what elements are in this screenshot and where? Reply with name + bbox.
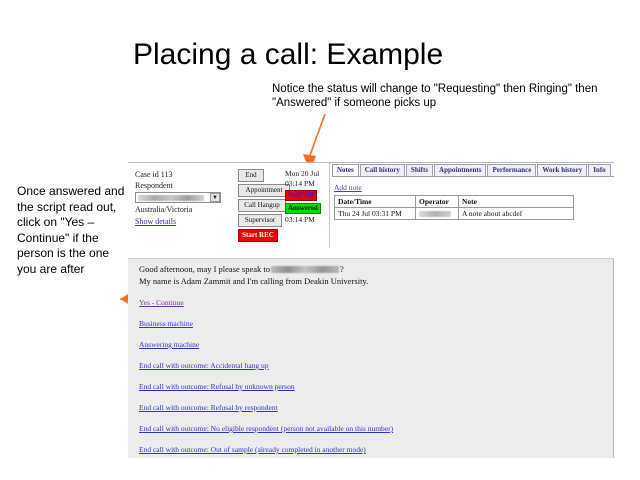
app-header-region: Case id 113 Respondent ▼ Australia/Victo… xyxy=(128,163,614,248)
column-header-datetime: Date/Time xyxy=(335,196,416,208)
status-date: Mon 20 Jul xyxy=(285,169,327,179)
call-script-text: Good afternoon, may I please speak to? M… xyxy=(139,264,368,287)
outcome-refusal-unknown-person[interactable]: End call with outcome: Refusal by unknow… xyxy=(139,382,393,391)
outcome-no-eligible-respondent[interactable]: End call with outcome: No eligible respo… xyxy=(139,424,393,433)
add-note-link[interactable]: Add note xyxy=(334,183,362,192)
outcome-accidental-hang-up[interactable]: End call with outcome: Accidental hang u… xyxy=(139,361,393,370)
tab-strip: Notes Call history Shifts Appointments P… xyxy=(332,165,614,177)
tab-work-history[interactable]: Work history xyxy=(537,164,587,176)
outcome-answering-machine[interactable]: Answering machine xyxy=(139,340,393,349)
slide-canvas: Placing a call: Example Notice the statu… xyxy=(0,0,640,480)
notes-panel: Notes Call history Shifts Appointments P… xyxy=(332,165,614,248)
case-id-label: Case id 113 xyxy=(135,170,235,181)
call-status-badge: Answered xyxy=(285,203,321,214)
script-area: Good afternoon, may I please speak to? M… xyxy=(128,258,614,458)
script-line-1: Good afternoon, may I please speak to? xyxy=(139,264,368,276)
tab-call-history[interactable]: Call history xyxy=(360,164,405,176)
script-line1-before: Good afternoon, may I please speak to xyxy=(139,264,270,274)
outcome-link-list: Yes - Continue Business machine Answerin… xyxy=(139,298,393,458)
show-details-link[interactable]: Show details xyxy=(135,217,176,228)
column-header-operator: Operator xyxy=(416,196,459,208)
tab-notes[interactable]: Notes xyxy=(332,164,359,176)
region-label: Australia/Victoria xyxy=(135,205,235,216)
callout-script-note: Once answered and the script read out, c… xyxy=(17,184,129,277)
notes-table: Date/Time Operator Note Thu 24 Jul 03:31… xyxy=(334,195,574,220)
outcome-refusal-respondent[interactable]: End call with outcome: Refusal by respon… xyxy=(139,403,393,412)
embedded-app-screenshot: Case id 113 Respondent ▼ Australia/Victo… xyxy=(128,162,614,458)
column-header-note: Note xyxy=(459,196,574,208)
voip-status-badge: VoIP Off xyxy=(285,190,317,201)
cell-operator xyxy=(416,208,459,220)
cell-datetime: Thu 24 Jul 03:31 PM xyxy=(335,208,416,220)
supervisor-button[interactable]: Supervisor xyxy=(238,214,282,227)
outcome-business-machine[interactable]: Business machine xyxy=(139,319,393,328)
tab-info[interactable]: Info xyxy=(588,164,610,176)
respondent-dropdown[interactable]: ▼ xyxy=(135,192,221,203)
end-button[interactable]: End xyxy=(238,169,264,182)
table-header-row: Date/Time Operator Note xyxy=(335,196,574,208)
appointment-button[interactable]: Appointment xyxy=(238,184,290,197)
callout-status-note: Notice the status will change to "Reques… xyxy=(272,82,602,110)
chevron-down-icon[interactable]: ▼ xyxy=(210,193,220,202)
call-status-column: Mon 20 Jul 03:14 PM VoIP Off Answered 03… xyxy=(285,169,327,225)
script-line-2: My name is Adam Zammit and I'm calling f… xyxy=(139,276,368,288)
redacted-person-name xyxy=(271,266,339,273)
cell-note: A note about abcdef xyxy=(459,208,574,220)
page-title: Placing a call: Example xyxy=(133,38,443,72)
table-row[interactable]: Thu 24 Jul 03:31 PM A note about abcdef xyxy=(335,208,574,220)
respondent-label: Respondent xyxy=(135,181,235,192)
tab-appointments[interactable]: Appointments xyxy=(434,164,486,176)
panel-divider xyxy=(329,163,330,248)
redacted-operator-name xyxy=(419,211,451,217)
redacted-respondent-name xyxy=(138,195,204,201)
status-time-top: 03:14 PM xyxy=(285,179,327,189)
status-time-bottom: 03:14 PM xyxy=(285,215,327,225)
script-line1-after: ? xyxy=(340,264,344,274)
outcome-yes-continue[interactable]: Yes - Continue xyxy=(139,298,393,307)
case-info-panel: Case id 113 Respondent ▼ Australia/Victo… xyxy=(135,170,235,227)
call-hangup-button[interactable]: Call Hangup xyxy=(238,199,286,212)
outcome-out-of-sample[interactable]: End call with outcome: Out of sample (al… xyxy=(139,445,393,454)
tab-shifts[interactable]: Shifts xyxy=(406,164,433,176)
start-rec-button[interactable]: Start REC xyxy=(238,229,278,242)
tab-performance[interactable]: Performance xyxy=(487,164,536,176)
